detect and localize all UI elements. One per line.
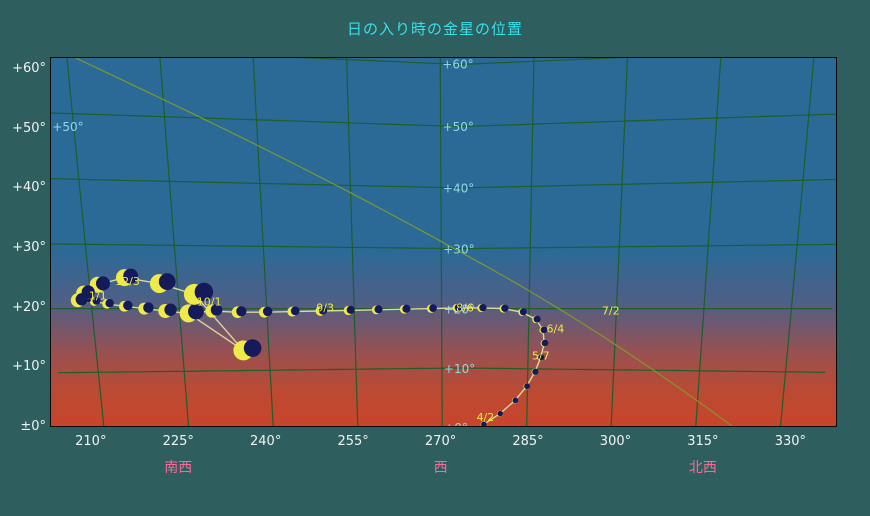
compass-direction-label: 南西 <box>138 457 218 477</box>
altitude-tick-label: ±0° <box>0 419 46 434</box>
venus-shadow <box>143 302 154 313</box>
sky-chart-svg: +60°+50°+40°+30°+20°+10°±0°+50°+54/25/76… <box>51 58 837 427</box>
date-label: 1/1 <box>89 290 107 303</box>
venus-shadow <box>76 293 88 305</box>
inner-altitude-label: +60° <box>442 58 473 72</box>
compass-direction-label: 北西 <box>663 457 743 477</box>
venus-shadow <box>244 339 262 357</box>
date-label: 6/4 <box>547 323 565 336</box>
venus-shadow <box>534 316 541 323</box>
venus-shadow <box>159 273 176 290</box>
sky-plot-area: +60°+50°+40°+30°+20°+10°±0°+50°+54/25/76… <box>50 57 837 427</box>
azimuth-tick-label: 255° <box>323 434 383 449</box>
date-label: 10/1 <box>197 296 222 309</box>
altitude-tick-label: +20° <box>0 300 46 315</box>
azimuth-tick-label: 270° <box>411 434 471 449</box>
azimuth-tick-label: 330° <box>760 434 820 449</box>
chart-canvas: 日の入り時の金星の位置 +60°+50°+40°+30°+20°+10°±0°+… <box>0 0 870 516</box>
inner-altitude-label: +40° <box>443 181 474 195</box>
altitude-tick-label: +30° <box>0 240 46 255</box>
altitude-tick-label: +60° <box>0 61 46 76</box>
venus-shadow <box>501 305 508 312</box>
venus-shadow <box>512 398 518 404</box>
venus-shadow <box>236 306 246 316</box>
date-label: 5/7 <box>532 349 550 362</box>
venus-shadow <box>347 306 355 314</box>
date-label: 4/2 <box>477 411 495 424</box>
inner-edge-altitude-label: +50° <box>52 120 83 134</box>
inner-altitude-label: +50° <box>443 120 474 134</box>
venus-shadow <box>105 299 113 307</box>
venus-shadow <box>374 305 382 313</box>
venus-shadow <box>479 304 486 311</box>
compass-direction-label: 西 <box>401 457 481 477</box>
azimuth-tick-label: 285° <box>498 434 558 449</box>
venus-shadow <box>96 276 110 290</box>
venus-shadow <box>532 369 538 375</box>
venus-shadow <box>164 304 176 316</box>
azimuth-tick-label: 300° <box>585 434 645 449</box>
date-label: 9/3 <box>316 302 334 315</box>
azimuth-tick-label: 210° <box>61 434 121 449</box>
venus-shadow <box>497 411 503 417</box>
date-label: 12/3 <box>115 275 140 288</box>
altitude-tick-label: +50° <box>0 121 46 136</box>
venus-shadow <box>429 304 437 312</box>
azimuth-tick-label: 315° <box>673 434 733 449</box>
venus-shadow <box>520 308 527 315</box>
altitude-tick-label: +40° <box>0 180 46 195</box>
chart-title: 日の入り時の金星の位置 <box>0 18 870 39</box>
inner-altitude-label: +30° <box>443 242 474 256</box>
venus-shadow <box>291 307 300 316</box>
inner-altitude-label: +10° <box>444 362 475 376</box>
venus-shadow <box>402 305 410 313</box>
altitude-tick-label: +10° <box>0 359 46 374</box>
inner-altitude-label: ±0° <box>444 421 468 427</box>
venus-shadow <box>263 307 273 317</box>
venus-shadow <box>123 301 133 311</box>
date-label: 7/2 <box>602 305 620 318</box>
venus-shadow <box>542 340 549 347</box>
azimuth-tick-label: 240° <box>236 434 296 449</box>
date-label: 8/6 <box>456 302 474 315</box>
azimuth-tick-label: 225° <box>148 434 208 449</box>
venus-shadow <box>524 383 530 389</box>
